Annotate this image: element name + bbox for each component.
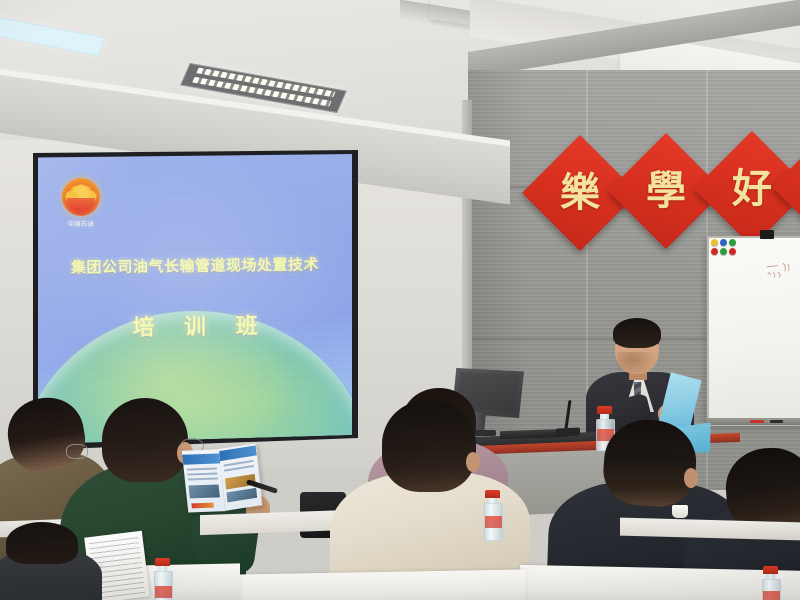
banner-character: 樂 [560, 173, 600, 213]
foreground-table-right [520, 565, 800, 600]
conference-room-photo: 樂 學 好 勤 中国石油 [0, 0, 800, 600]
water-bottle [762, 566, 779, 600]
magnet-icon [720, 239, 727, 246]
whiteboard-clip [760, 230, 774, 239]
presenter-face-shadow [617, 352, 655, 374]
water-bottle [484, 490, 501, 541]
brochure-text-line [187, 473, 217, 476]
attendee-head [382, 400, 476, 492]
magnet-icon [720, 248, 727, 255]
brochure-text-line [188, 478, 218, 481]
whiteboard-magnets [711, 239, 741, 257]
brochure-page-right [219, 443, 262, 510]
brochure-text-line [187, 468, 217, 471]
petrochina-sun-icon [62, 178, 100, 216]
attendee-ear [466, 452, 480, 472]
petrochina-logo: 中国石油 [60, 178, 102, 230]
bottle-cap [155, 558, 170, 566]
attendee-front-row [0, 548, 102, 600]
bottle-body [154, 571, 173, 600]
magnet-icon [729, 239, 736, 246]
bottle-label [763, 591, 780, 600]
marker-pen [750, 420, 764, 423]
bottle-cap [763, 566, 778, 574]
bottle-label [155, 586, 172, 598]
brochure-text-line [224, 465, 253, 471]
presenter-hair [613, 318, 661, 348]
magnet-icon [729, 248, 736, 255]
bottle-body [762, 579, 781, 600]
attendee-head [6, 522, 78, 564]
banner-character: 學 [646, 171, 686, 211]
bottle-cap [597, 406, 612, 414]
brochure-photo [188, 484, 220, 498]
banner-character: 好 [732, 169, 772, 209]
magnet-icon [711, 239, 718, 246]
logo-caption: 中国石油 [60, 219, 102, 228]
water-bottle [154, 558, 171, 600]
attendee-head [102, 398, 188, 482]
whiteboard-handwriting [765, 260, 800, 286]
attendee-ear [684, 468, 698, 488]
brochure-header-band [182, 453, 220, 464]
magnet-icon [711, 248, 718, 255]
slide-title: 集团公司油气长输管道现场处置技术 [38, 253, 352, 278]
bottle-body [484, 503, 503, 541]
attendee-head [601, 417, 699, 509]
slide-subtitle: 培 训 班 [38, 307, 352, 343]
ceiling-light-icon [0, 12, 106, 56]
bottle-label [485, 516, 502, 528]
bottle-cap [485, 490, 500, 498]
marker-pen [770, 420, 783, 423]
foreground-table-center [236, 569, 526, 600]
whiteboard [707, 236, 800, 426]
brochure-photo [226, 488, 257, 503]
brochure [182, 444, 263, 514]
brochure-page-left [182, 450, 226, 513]
brochure-accent [191, 503, 214, 509]
cup [672, 505, 688, 518]
brochure-header-band [219, 445, 257, 461]
